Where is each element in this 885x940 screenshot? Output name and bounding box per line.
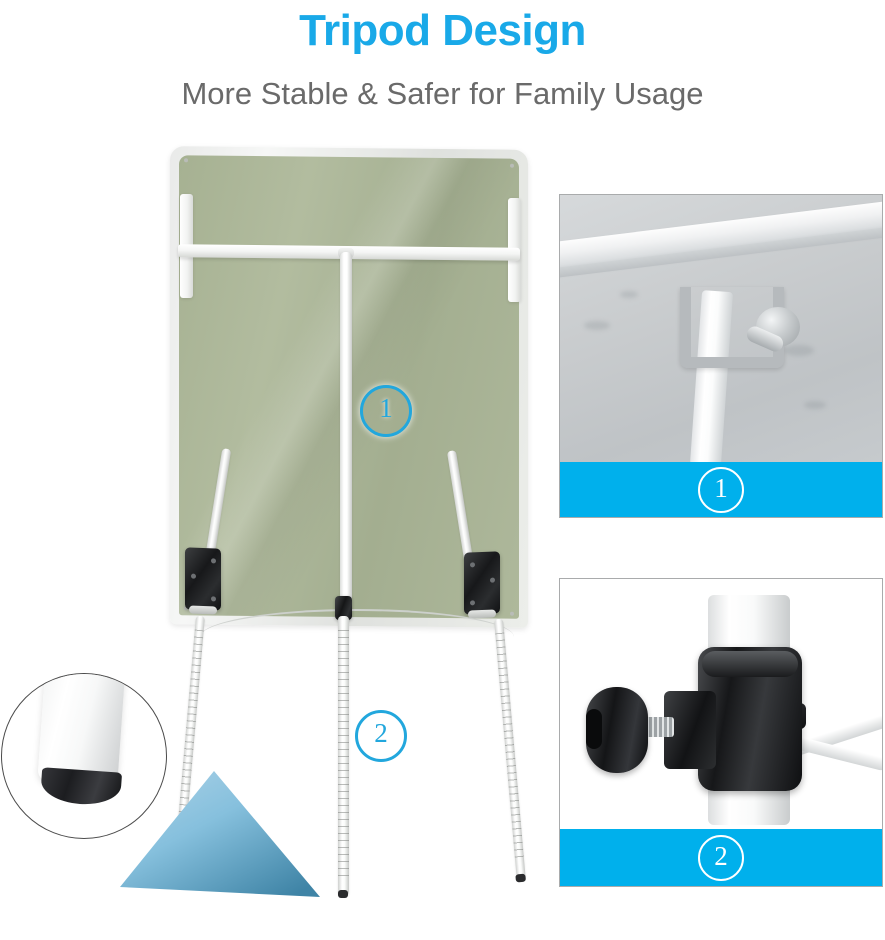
panel-badge-2: 2 xyxy=(698,835,744,881)
panel-badge-1: 1 xyxy=(698,467,744,513)
center-mast xyxy=(340,252,352,618)
detail-panel-band-1: 1 xyxy=(560,462,882,517)
leg-rubber-foot xyxy=(515,874,526,883)
corner-bracket-left xyxy=(185,547,221,610)
detail-photo-bracket xyxy=(560,195,882,462)
leg-rubber-foot xyxy=(338,890,348,898)
corner-bracket-right xyxy=(464,551,500,614)
detail-panel-clamp: 2 xyxy=(559,578,883,887)
frame-rivet xyxy=(510,164,514,168)
tripod-leg-right xyxy=(494,619,526,881)
collar-lip xyxy=(702,651,798,677)
rubber-foot-cap-closeup xyxy=(40,767,122,806)
magnifier-circle-inset xyxy=(1,673,167,839)
callout-badge-2: 2 xyxy=(355,710,407,762)
detail-panel-bracket: 1 xyxy=(559,194,883,518)
detail-panel-band-2: 2 xyxy=(560,829,882,886)
frame-rivet xyxy=(510,612,514,616)
leg-ruler-ticks xyxy=(495,633,524,861)
frame-rivet xyxy=(184,158,188,162)
tightening-knob xyxy=(586,687,648,773)
tripod-leg-center xyxy=(338,616,349,896)
callout-badge-1: 1 xyxy=(360,385,412,437)
leg-ruler-ticks xyxy=(338,630,349,876)
page-subtitle: More Stable & Safer for Family Usage xyxy=(0,74,885,114)
knob-grip-notch xyxy=(586,709,602,749)
detail-photo-clamp xyxy=(560,579,882,829)
infographic-page: Tripod Design More Stable & Safer for Fa… xyxy=(0,0,885,940)
page-title: Tripod Design xyxy=(0,4,885,58)
